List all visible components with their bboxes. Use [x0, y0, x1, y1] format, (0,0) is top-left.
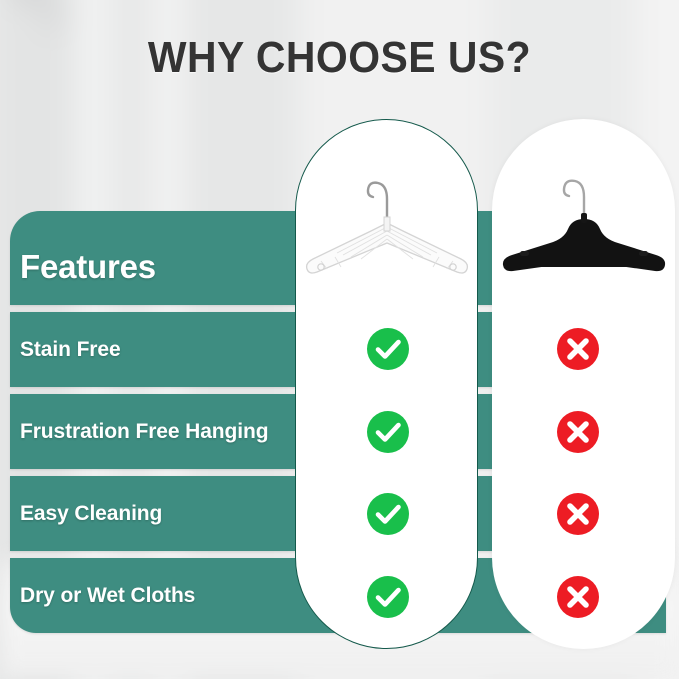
- product-column-theirs: [492, 119, 675, 649]
- black-velvet-hanger-icon: [493, 160, 674, 290]
- check-circle-icon: [366, 575, 410, 619]
- cross-circle-icon: [556, 410, 600, 454]
- white-plastic-hanger-icon: [296, 160, 477, 290]
- verdict-theirs-row-3: [556, 575, 600, 619]
- comparison-infographic: WHY CHOOSE US? Features Stain Free Frust…: [0, 0, 679, 679]
- cross-circle-icon: [556, 575, 600, 619]
- page-title: WHY CHOOSE US?: [24, 32, 655, 84]
- product-column-ours: [295, 119, 478, 649]
- check-circle-icon: [366, 410, 410, 454]
- cross-circle-icon: [556, 327, 600, 371]
- check-circle-icon: [366, 492, 410, 536]
- feature-label: Stain Free: [20, 337, 121, 363]
- verdict-theirs-row-1: [556, 410, 600, 454]
- verdict-theirs-row-0: [556, 327, 600, 371]
- check-circle-icon: [366, 327, 410, 371]
- cross-circle-icon: [556, 492, 600, 536]
- verdict-ours-row-3: [366, 575, 410, 619]
- verdict-theirs-row-2: [556, 492, 600, 536]
- feature-label: Dry or Wet Cloths: [20, 583, 195, 609]
- feature-label: Easy Cleaning: [20, 501, 162, 527]
- verdict-ours-row-0: [366, 327, 410, 371]
- verdict-ours-row-1: [366, 410, 410, 454]
- features-column-heading: Features: [20, 247, 156, 287]
- feature-label: Frustration Free Hanging: [20, 419, 268, 445]
- verdict-ours-row-2: [366, 492, 410, 536]
